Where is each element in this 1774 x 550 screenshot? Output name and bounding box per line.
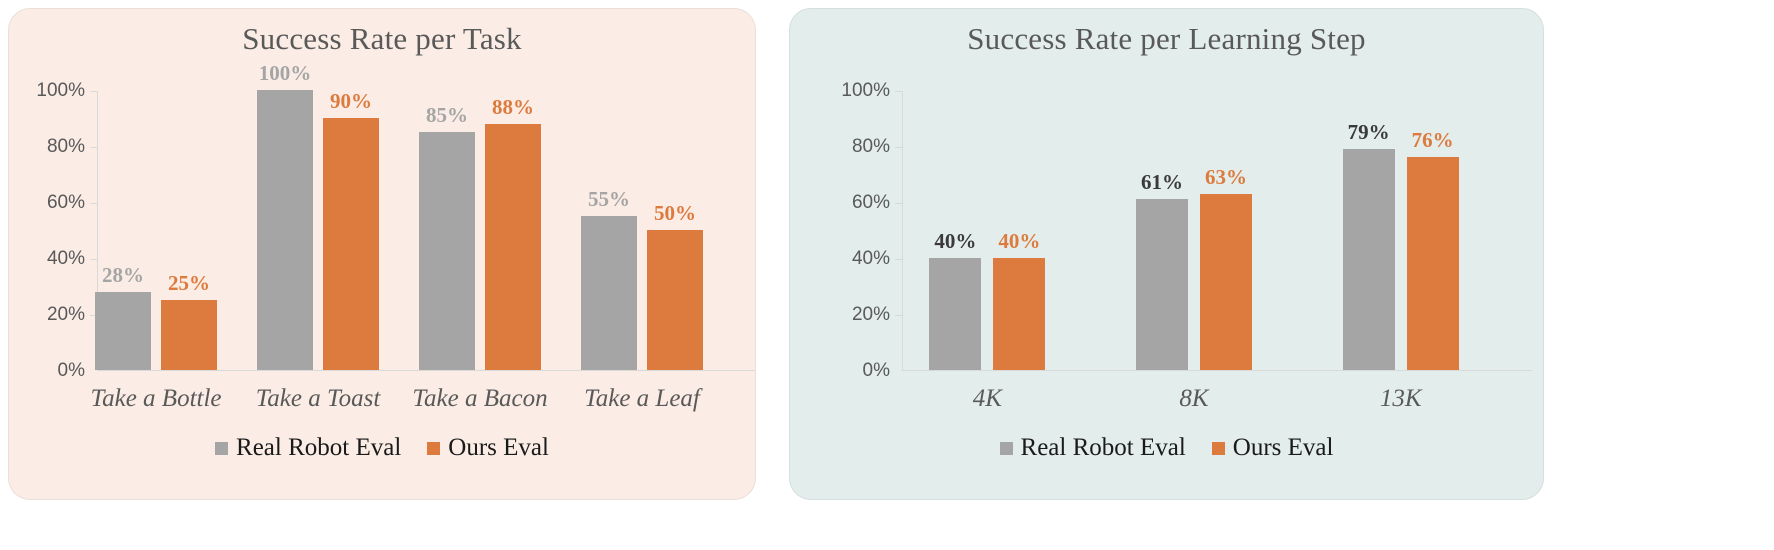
chart-title-left: Success Rate per Task [9,21,755,57]
y-axis-label: 80% [47,136,85,158]
bar-value-label: 63% [1205,165,1247,190]
x-axis-baseline-right [902,370,1532,371]
bar-ours-eval[interactable] [323,118,379,370]
y-axis-label: 40% [47,248,85,270]
legend-swatch-icon [1000,442,1013,455]
bar-real-robot-eval[interactable] [581,216,637,370]
y-axis-label: 100% [841,80,890,102]
bar-real-robot-eval[interactable] [1136,199,1188,370]
bar-value-label: 79% [1348,120,1390,145]
chart-page: Success Rate per Task 0%20%40%60%80%100%… [0,0,1774,550]
chart-panel-success-rate-per-task: Success Rate per Task 0%20%40%60%80%100%… [8,8,756,500]
bar-ours-eval[interactable] [485,124,541,370]
bar-value-label: 100% [259,61,312,86]
legend-label: Real Robot Eval [236,434,401,462]
x-axis-category-label: Take a Bottle [90,385,221,413]
bar-value-label: 25% [168,271,210,296]
y-axis-label: 60% [47,192,85,214]
bar-value-label: 50% [654,201,696,226]
bar-real-robot-eval[interactable] [1343,149,1395,370]
bar-value-label: 85% [426,103,468,128]
legend-swatch-icon [1212,442,1225,455]
bar-value-label: 40% [998,229,1040,254]
legend-item-ours-eval[interactable]: Ours Eval [1212,434,1334,462]
bar-value-label: 90% [330,89,372,114]
plot-area-right: 0%20%40%60%80%100%40%40%4K61%63%8K79%76%… [902,91,1522,371]
plot-area-left: 0%20%40%60%80%100%28%25%Take a Bottle100… [97,91,745,371]
legend-swatch-icon [215,442,228,455]
legend-left: Real Robot EvalOurs Eval [9,434,755,462]
y-axis-label: 80% [852,136,890,158]
x-axis-category-label: Take a Leaf [584,385,700,413]
y-axis-label: 60% [852,192,890,214]
legend-item-real-robot-eval[interactable]: Real Robot Eval [1000,434,1186,462]
bar-ours-eval[interactable] [647,230,703,370]
y-axis-label: 0% [58,360,85,382]
bar-real-robot-eval[interactable] [419,132,475,370]
bar-value-label: 61% [1141,170,1183,195]
chart-panel-success-rate-per-learning-step: Success Rate per Learning Step 0%20%40%6… [789,8,1544,500]
y-axis-label: 0% [863,360,890,382]
y-axis-tick [90,147,97,148]
y-axis-tick [895,91,902,92]
y-axis-label: 100% [36,80,85,102]
legend-label: Ours Eval [1233,434,1334,462]
legend-item-ours-eval[interactable]: Ours Eval [427,434,549,462]
bar-ours-eval[interactable] [1407,157,1459,370]
x-axis-baseline-left [97,370,755,371]
bar-value-label: 40% [934,229,976,254]
x-axis-category-label: 13K [1380,385,1422,413]
y-axis-tick [90,259,97,260]
bar-value-label: 76% [1412,128,1454,153]
y-axis-line-right [902,91,903,371]
y-axis-tick [895,147,902,148]
y-axis-label: 40% [852,248,890,270]
bar-ours-eval[interactable] [161,300,217,370]
x-axis-category-label: Take a Bacon [412,385,547,413]
x-axis-category-label: 8K [1179,385,1208,413]
legend-item-real-robot-eval[interactable]: Real Robot Eval [215,434,401,462]
x-axis-category-label: 4K [973,385,1002,413]
bar-real-robot-eval[interactable] [95,292,151,370]
legend-label: Ours Eval [448,434,549,462]
chart-title-right: Success Rate per Learning Step [790,21,1543,57]
bar-value-label: 88% [492,95,534,120]
y-axis-tick [895,259,902,260]
x-axis-category-label: Take a Toast [256,385,381,413]
legend-label: Real Robot Eval [1021,434,1186,462]
bar-real-robot-eval[interactable] [257,90,313,370]
y-axis-label: 20% [47,304,85,326]
legend-right: Real Robot EvalOurs Eval [790,434,1543,462]
bar-value-label: 28% [102,263,144,288]
y-axis-tick [90,91,97,92]
y-axis-tick [895,203,902,204]
legend-swatch-icon [427,442,440,455]
bar-real-robot-eval[interactable] [929,258,981,370]
bar-ours-eval[interactable] [1200,194,1252,370]
y-axis-tick [895,315,902,316]
bar-ours-eval[interactable] [993,258,1045,370]
bar-value-label: 55% [588,187,630,212]
y-axis-tick [90,203,97,204]
y-axis-label: 20% [852,304,890,326]
